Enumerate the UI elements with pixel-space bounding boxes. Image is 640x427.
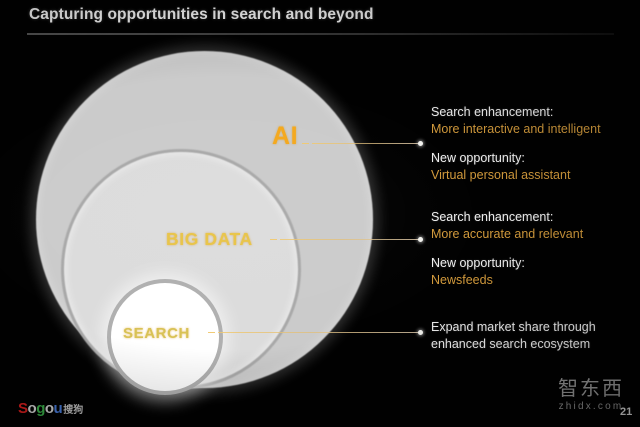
zhidx-watermark-chinese: 智东西 [558,378,624,400]
circle-label-search: SEARCH [123,325,190,342]
callout-ai-line-3: New opportunity: [431,150,601,167]
leader-dash-search [208,332,215,333]
callout-big-data-line-1: Search enhancement: [431,209,583,226]
leader-endpoint-search [418,330,423,335]
leader-dash-big-data [270,239,277,240]
sogou-logo-letter-s: S [18,400,28,417]
callout-ai-line-1: Search enhancement: [431,104,601,121]
leader-line-ai [312,143,420,144]
circle-label-big-data: BIG DATA [166,229,253,250]
sogou-logo: Sogou搜狗 [18,400,83,420]
callout-big-data-spacer [431,243,583,255]
callout-ai-spacer [431,138,601,150]
callout-search-line-2: enhanced search ecosystem [431,336,596,353]
page-title: Capturing opportunities in search and be… [29,6,374,24]
callout-big-data-line-4: Newsfeeds [431,272,583,289]
callout-ai-line-2: More interactive and intelligent [431,121,601,138]
slide-canvas: Capturing opportunities in search and be… [0,0,640,427]
leader-endpoint-ai [418,141,423,146]
sogou-logo-letter-g: g [36,400,45,417]
callout-search: Expand market share through enhanced sea… [431,319,596,353]
sogou-logo-letter-u: u [54,400,63,417]
leader-line-big-data [280,239,420,240]
zhidx-watermark-domain: zhidx.com [558,400,624,413]
sogou-logo-letter-o2: o [45,400,54,417]
zhidx-watermark: 智东西 zhidx.com [558,378,624,413]
callout-ai: Search enhancement: More interactive and… [431,104,601,184]
callout-search-line-1: Expand market share through [431,319,596,336]
leader-endpoint-big-data [418,237,423,242]
page-number: 21 [620,406,632,418]
sogou-logo-chinese: 搜狗 [63,405,83,416]
title-divider [27,33,614,35]
sogou-logo-letter-o1: o [28,400,37,417]
callout-big-data-line-3: New opportunity: [431,255,583,272]
callout-ai-line-4: Virtual personal assistant [431,167,601,184]
callout-big-data-line-2: More accurate and relevant [431,226,583,243]
leader-line-search [218,332,420,333]
callout-big-data: Search enhancement: More accurate and re… [431,209,583,289]
leader-dash-ai [302,143,309,144]
circle-label-ai: AI [272,122,298,151]
